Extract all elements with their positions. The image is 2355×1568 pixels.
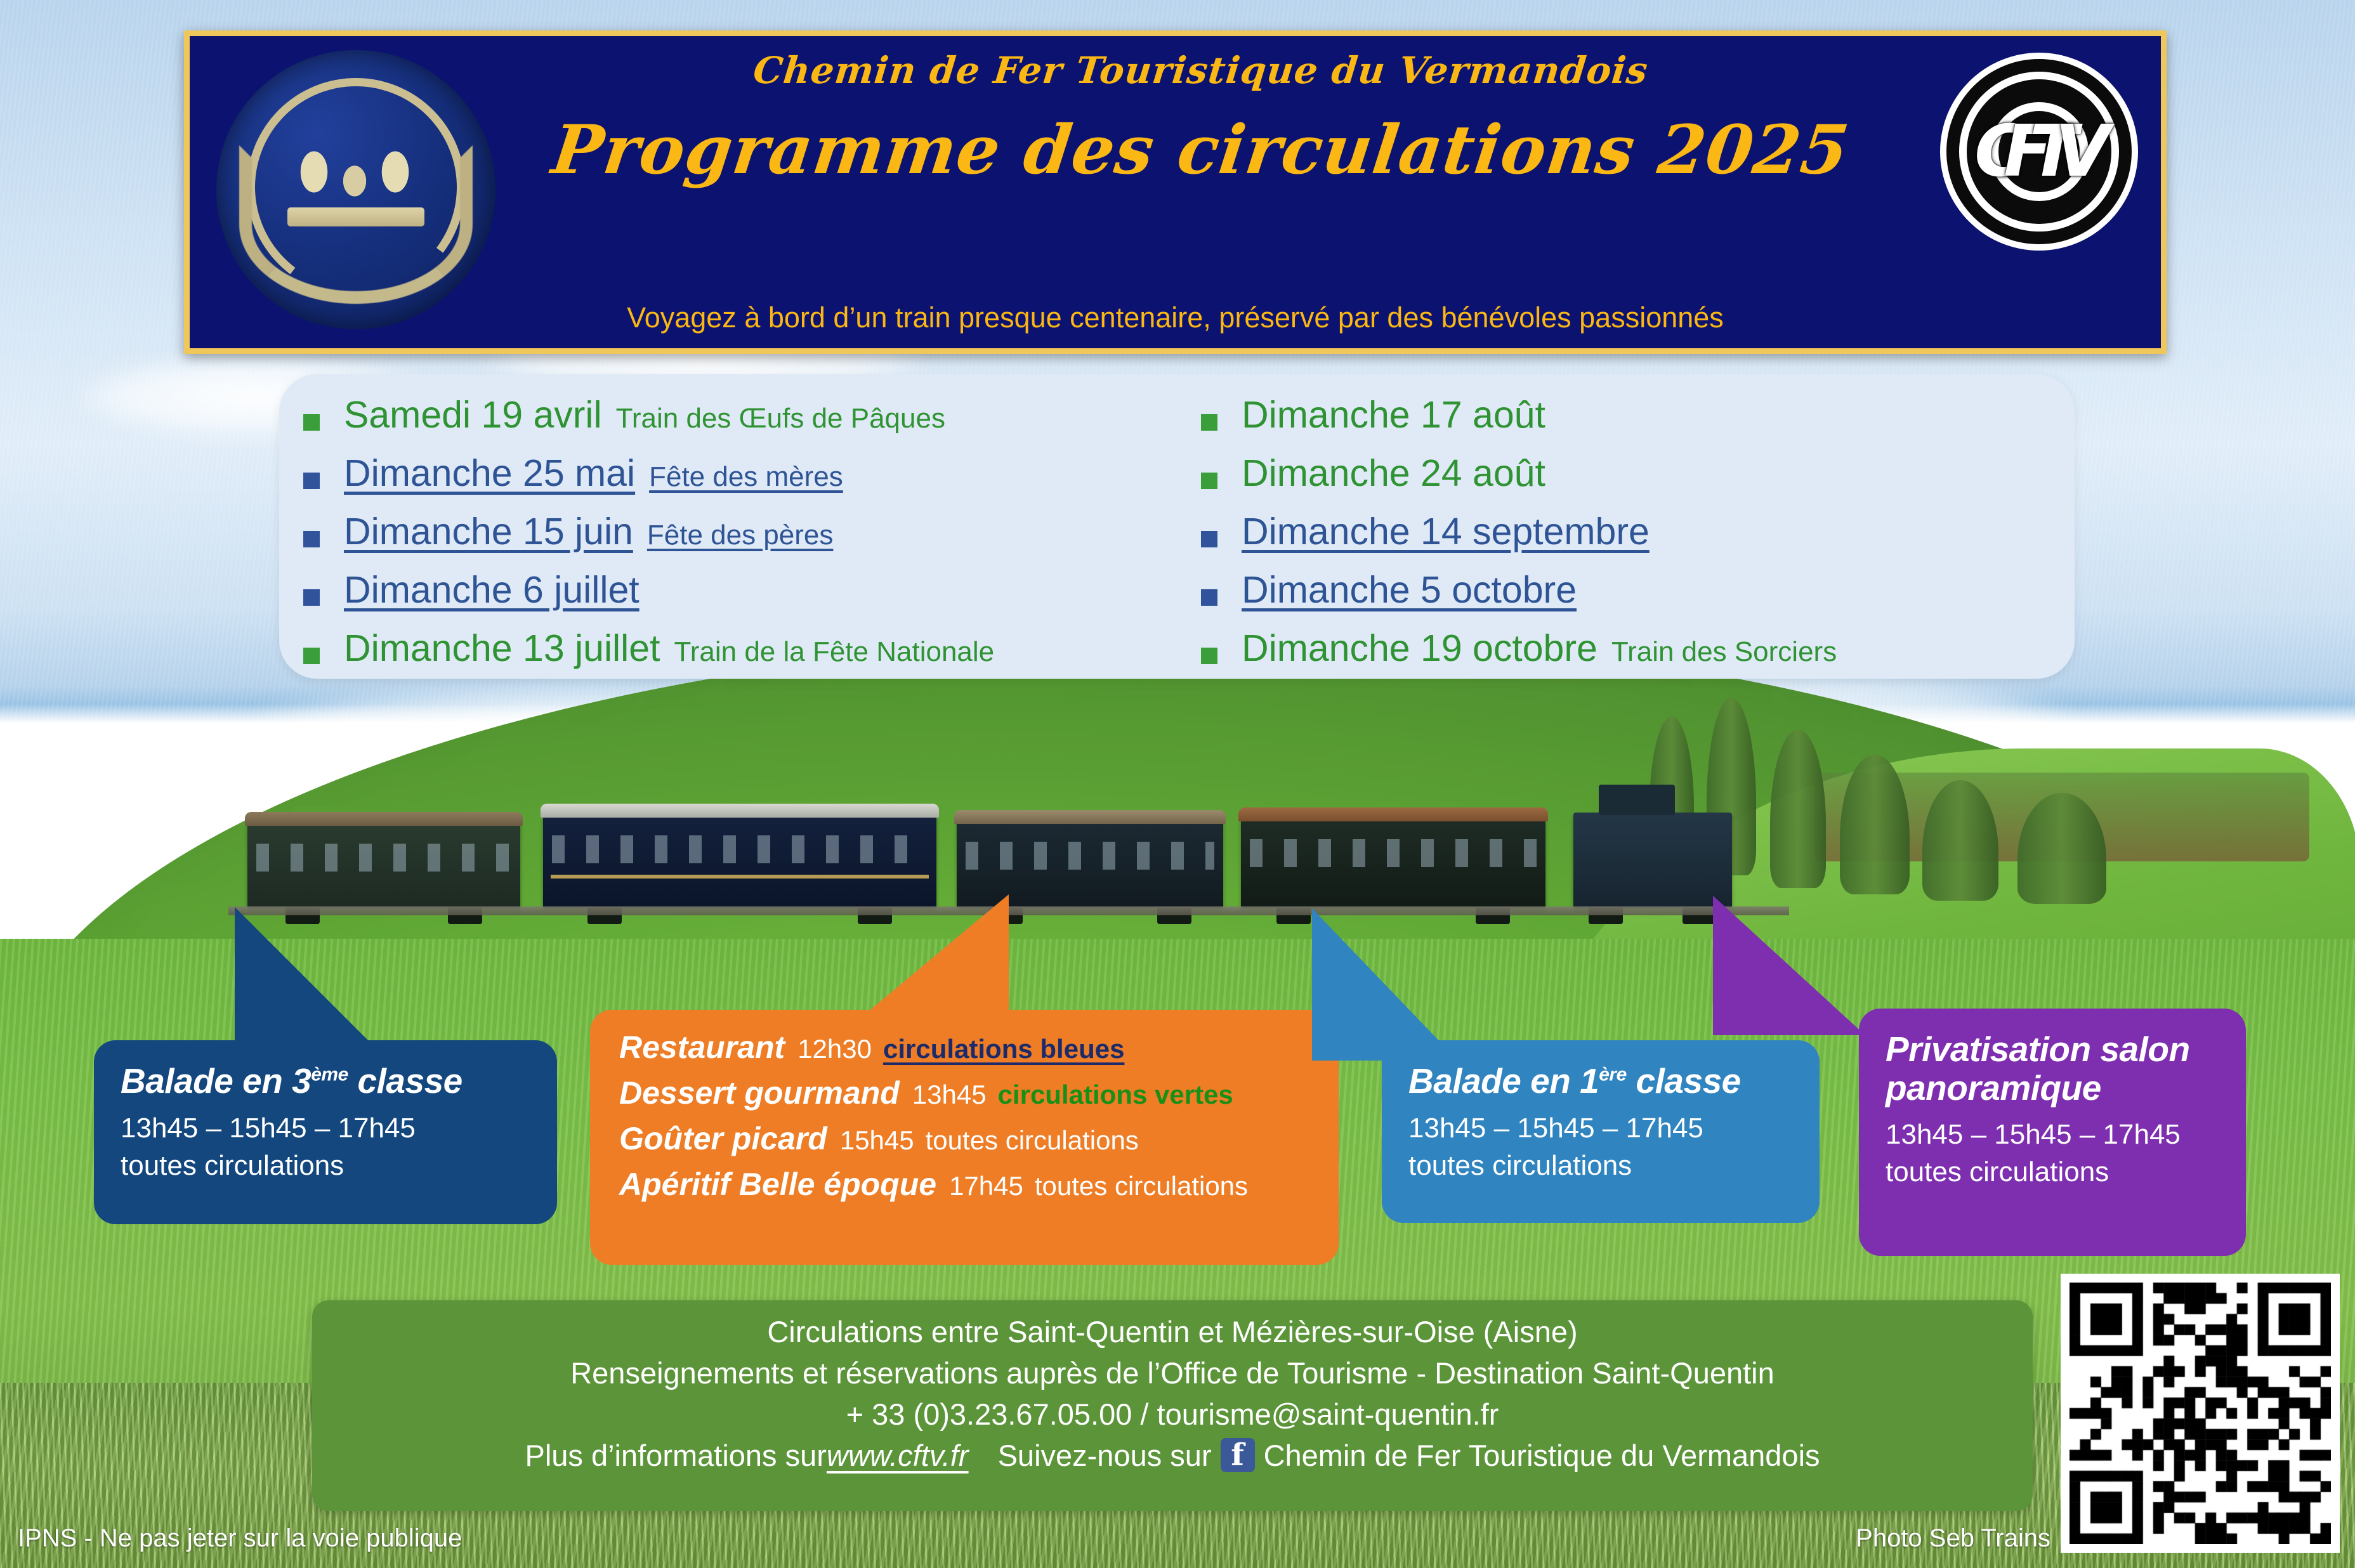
bullet-square-icon [1201, 473, 1217, 489]
railway-track [228, 906, 1789, 915]
dates-column-right: Dimanche 17 aoûtDimanche 24 aoûtDimanche… [1177, 374, 2075, 679]
ordinal-suffix: ère [1599, 1064, 1627, 1085]
facebook-page-name: Chemin de Fer Touristique du Vermandois [1264, 1438, 1820, 1473]
header-tagline: Voyagez à bord d’un train presque centen… [152, 301, 2199, 334]
bullet-square-icon [1201, 414, 1217, 431]
page-title: Chemin de Fer Touristique du Vermandois [504, 49, 1896, 92]
car-windows [966, 842, 1214, 870]
car-windows [1250, 839, 1537, 867]
callout-times: 13h45 – 15h45 – 17h45 [1886, 1116, 2246, 1153]
dates-panel: Samedi 19 avrilTrain des Œufs de PâquesD… [279, 374, 2075, 679]
callout-scope: toutes circulations [1408, 1147, 1820, 1184]
date-row: Dimanche 19 octobreTrain des Sorciers [1201, 627, 2075, 685]
wagons-lits-emblem [216, 50, 495, 329]
bullet-square-icon [303, 414, 320, 431]
date-label[interactable]: Dimanche 14 septembre [1242, 510, 1650, 553]
page-subtitle-main: Programme des circulations 2025 [502, 110, 1899, 189]
date-label: Samedi 19 avril [344, 393, 602, 436]
date-label[interactable]: Dimanche 5 octobre [1242, 568, 1577, 611]
service-name: Apéritif Belle époque [619, 1166, 936, 1203]
emblem-scroll [287, 207, 424, 226]
emblem-lions-crest [291, 134, 418, 210]
info-panel: Circulations entre Saint-Quentin et Mézi… [312, 1300, 2033, 1511]
service-time: 15h45 [840, 1125, 914, 1156]
callout-first-class: Balade en 1ère classe 13h45 – 15h45 – 17… [1382, 1040, 1820, 1223]
cftv-circular-logo: CFTV [1940, 53, 2138, 251]
service-name: Restaurant [619, 1029, 785, 1066]
service-time: 17h45 [949, 1171, 1023, 1201]
restaurant-row: Apéritif Belle époque17h45toutes circula… [619, 1166, 1339, 1203]
restaurant-row: Restaurant12h30circulations bleues [619, 1029, 1339, 1066]
car-roof [954, 810, 1226, 824]
train-car-2-restaurant [543, 814, 936, 908]
date-row: Dimanche 15 juinFête des pères [303, 510, 1177, 568]
date-row: Dimanche 13 juilletTrain de la Fête Nati… [303, 627, 1177, 685]
logo-monogram: CFTV [1940, 53, 2138, 251]
callout-title-line2: panoramique [1886, 1069, 2246, 1107]
date-row: Dimanche 17 août [1201, 393, 2075, 452]
locomotive [1573, 813, 1732, 908]
service-time: 13h45 [912, 1080, 987, 1110]
service-name: Dessert gourmand [619, 1075, 900, 1111]
bullet-square-icon [1201, 589, 1217, 606]
qr-code[interactable] [2061, 1274, 2340, 1553]
callout-privatisation: Privatisation salon panoramique 13h45 – … [1859, 1009, 2246, 1256]
callout-tail-first-class [1312, 908, 1458, 1061]
callout-scope: toutes circulations [1886, 1153, 2246, 1191]
date-row: Dimanche 25 maiFête des mères [303, 452, 1177, 510]
service-time: 12h30 [797, 1034, 872, 1064]
callout-tail-third-class [235, 907, 381, 1053]
service-scope: circulations bleues [883, 1034, 1124, 1064]
restaurant-rows: Restaurant12h30circulations bleuesDesser… [590, 1010, 1339, 1203]
date-label[interactable]: Dimanche 25 mai [344, 452, 635, 495]
date-row: Dimanche 14 septembre [1201, 510, 2075, 568]
date-label: Dimanche 13 juillet [344, 627, 660, 670]
car-roof [541, 804, 939, 818]
callout-title: Balade en 3ème classe [121, 1062, 557, 1101]
service-scope: toutes circulations [926, 1125, 1139, 1156]
date-label: Dimanche 24 août [1242, 452, 1545, 495]
info-route: Circulations entre Saint-Quentin et Mézi… [312, 1312, 2033, 1353]
date-row: Dimanche 24 août [1201, 452, 2075, 510]
info-contact: + 33 (0)3.23.67.05.00 / tourisme@saint-q… [312, 1394, 2033, 1435]
poster-header: Chemin de Fer Touristique du Vermandois … [184, 30, 2167, 354]
callout-title: Balade en 1ère classe [1408, 1062, 1820, 1101]
date-label: Dimanche 17 août [1242, 393, 1545, 436]
logo-letter: V [2055, 110, 2104, 193]
website-link[interactable]: www.cftv.fr [827, 1438, 969, 1473]
bullet-square-icon [303, 648, 320, 664]
date-note: Train des Œufs de Pâques [616, 403, 945, 434]
date-label: Dimanche 19 octobre [1242, 627, 1597, 670]
train-car-4 [1241, 818, 1545, 908]
date-note: Train des Sorciers [1611, 636, 1837, 668]
dates-column-left: Samedi 19 avrilTrain des Œufs de PâquesD… [279, 374, 1177, 679]
car-roof [1238, 807, 1548, 821]
callout-tail-restaurant [856, 894, 1009, 1021]
callout-times: 13h45 – 15h45 – 17h45 [1408, 1109, 1820, 1147]
callout-restaurant: Restaurant12h30circulations bleuesDesser… [590, 1010, 1339, 1265]
callout-times: 13h45 – 15h45 – 17h45 [121, 1109, 557, 1147]
train-car-1 [247, 822, 520, 908]
car-windows [256, 844, 511, 872]
date-note: Train de la Fête Nationale [674, 636, 994, 668]
callout-title-line1: Privatisation salon [1886, 1030, 2246, 1069]
callout-scope: toutes circulations [121, 1147, 557, 1184]
service-name: Goûter picard [619, 1120, 827, 1157]
car-roof [245, 812, 523, 826]
service-scope: circulations vertes [998, 1080, 1233, 1110]
bullet-square-icon [1201, 648, 1217, 664]
bullet-square-icon [303, 473, 320, 489]
photo-credit: Photo Seb Trains [1856, 1524, 2050, 1553]
footer-disclaimer: IPNS - Ne pas jeter sur la voie publique [18, 1524, 462, 1553]
restaurant-row: Goûter picard15h45toutes circulations [619, 1120, 1339, 1157]
date-note: Fête des pères [647, 519, 834, 551]
callout-tail-privatisation [1713, 896, 1865, 1035]
date-label[interactable]: Dimanche 15 juin [344, 510, 633, 553]
date-label[interactable]: Dimanche 6 juillet [344, 568, 640, 611]
bullet-square-icon [303, 531, 320, 547]
date-row: Dimanche 5 octobre [1201, 568, 2075, 627]
loco-cab [1599, 785, 1675, 815]
date-note: Fête des mères [649, 461, 843, 493]
bullet-square-icon [1201, 531, 1217, 547]
date-row: Samedi 19 avrilTrain des Œufs de Pâques [303, 393, 1177, 452]
facebook-icon[interactable]: f [1221, 1438, 1255, 1472]
car-gold-stripe [551, 875, 929, 879]
ordinal-suffix: ème [311, 1064, 348, 1085]
info-links-row: Plus d’informations sur www.cftv.fr Suiv… [312, 1438, 2033, 1473]
restaurant-row: Dessert gourmand13h45circulations vertes [619, 1075, 1339, 1111]
bullet-square-icon [303, 589, 320, 606]
car-windows [552, 835, 928, 863]
info-booking: Renseignements et réservations auprès de… [312, 1353, 2033, 1394]
date-row: Dimanche 6 juillet [303, 568, 1177, 627]
qr-code-canvas [2070, 1283, 2331, 1544]
follow-label: Suivez-nous sur [998, 1438, 1212, 1473]
callout-third-class: Balade en 3ème classe 13h45 – 15h45 – 17… [94, 1040, 557, 1224]
info-more-prefix: Plus d’informations sur [525, 1438, 826, 1473]
service-scope: toutes circulations [1035, 1171, 1248, 1201]
